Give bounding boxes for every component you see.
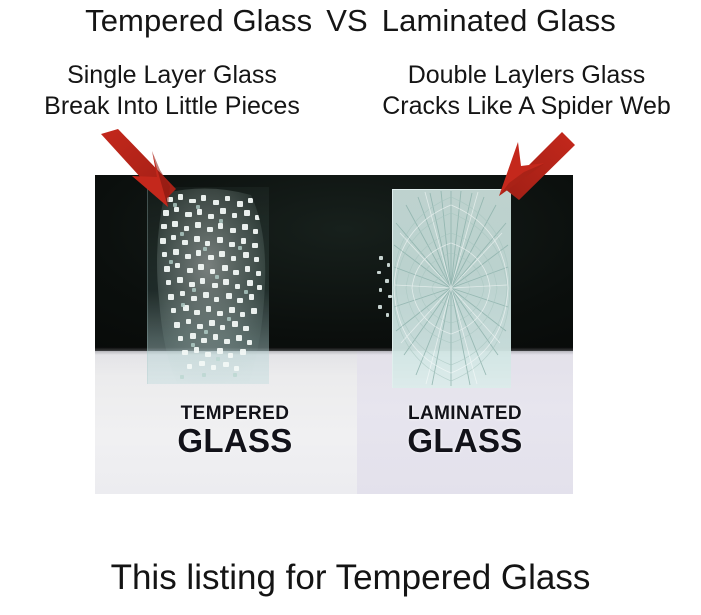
photo-label-laminated-bottom: GLASS: [367, 424, 563, 458]
caption-tempered-line-1: Single Layer Glass: [0, 60, 344, 91]
caption-laminated: Double Laylers Glass Cracks Like A Spide…: [352, 60, 701, 122]
laminated-glass-pane: [392, 189, 511, 388]
tempered-fragments-graphic: [147, 187, 269, 384]
photo-label-tempered-bottom: GLASS: [137, 424, 333, 458]
photo-label-laminated: LAMINATED GLASS: [367, 403, 563, 458]
caption-tempered: Single Layer Glass Break Into Little Pie…: [0, 60, 344, 122]
page-title: Tempered GlassVSLaminated Glass: [0, 2, 701, 40]
caption-tempered-line-2: Break Into Little Pieces: [0, 91, 344, 122]
spider-web-cracks-graphic: [392, 189, 511, 388]
caption-laminated-line-2: Cracks Like A Spider Web: [352, 91, 701, 122]
caption-laminated-line-1: Double Laylers Glass: [352, 60, 701, 91]
title-left-product: Tempered Glass: [85, 3, 312, 38]
footer-listing-note: This listing for Tempered Glass: [0, 556, 701, 600]
tempered-glass-pane: [147, 187, 269, 384]
glass-comparison-infographic: Tempered GlassVSLaminated Glass Single L…: [0, 0, 701, 615]
comparison-photo: TEMPERED GLASS LAMINATED GLASS: [95, 175, 573, 494]
title-right-product: Laminated Glass: [382, 3, 616, 38]
glass-debris-graphic: [373, 253, 399, 321]
photo-label-laminated-top: LAMINATED: [367, 403, 563, 424]
photo-label-tempered-top: TEMPERED: [137, 403, 333, 424]
title-versus: VS: [312, 3, 382, 38]
photo-label-tempered: TEMPERED GLASS: [137, 403, 333, 458]
